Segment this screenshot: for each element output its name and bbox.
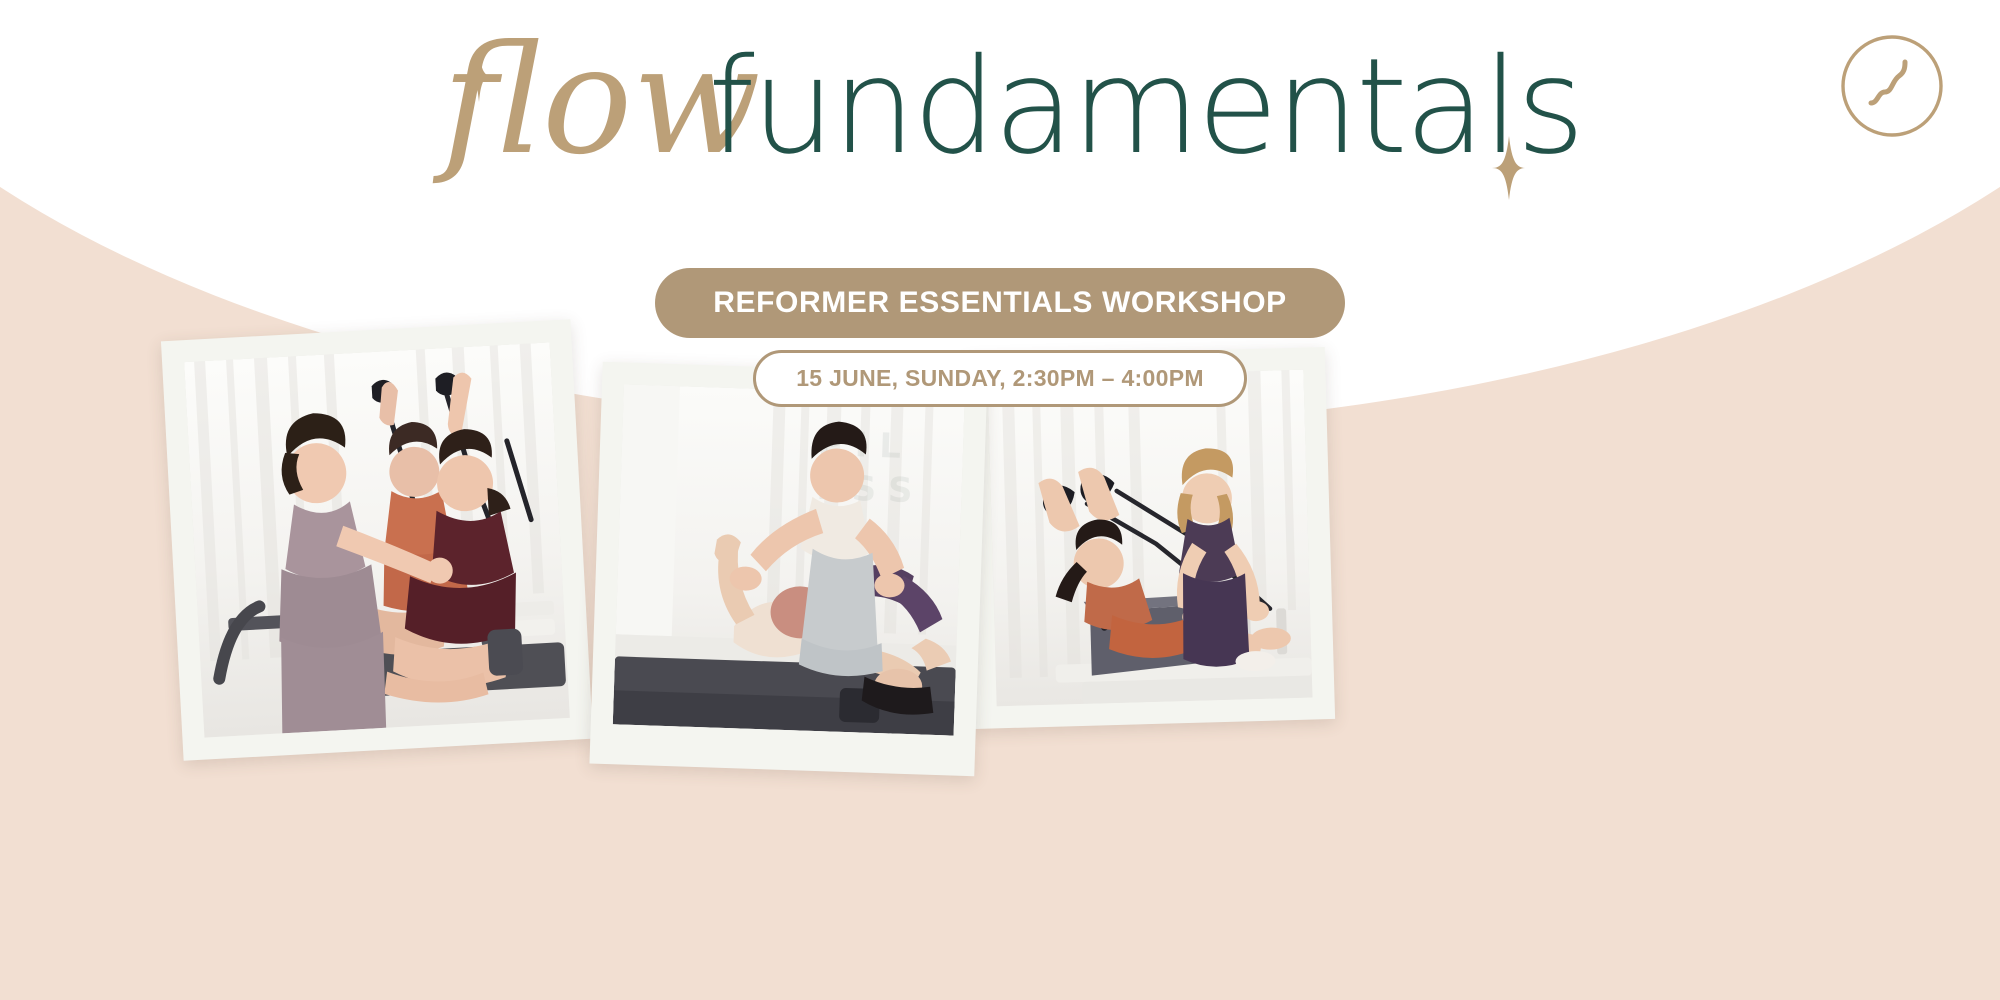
photo-center-illustration: P I L E S S (613, 384, 965, 735)
polaroid-photo-center[interactable]: Instructor in cream sportswear assisting… (589, 362, 987, 777)
circle-wave-logo-icon (1838, 32, 1946, 140)
workshop-title-badge[interactable]: REFORMER ESSENTIALS WORKSHOP (655, 268, 1345, 338)
headline-lockup: flow fundamentals (0, 24, 2000, 234)
poster-canvas: Instructor in mauve sportswear adjusting… (0, 0, 2000, 1000)
brand-logo[interactable] (1838, 32, 1946, 140)
session-date-pill[interactable]: 15 JUNE, SUNDAY, 2:30PM – 4:00PM (753, 350, 1247, 407)
photo-right-illustration (987, 370, 1312, 707)
headline-svg: flow fundamentals (420, 24, 1580, 234)
photo-window: Instructor in cream sportswear assisting… (613, 384, 965, 735)
headline-sans-word: fundamentals (708, 30, 1580, 184)
badge-stack: REFORMER ESSENTIALS WORKSHOP 15 JUNE, SU… (0, 268, 2000, 407)
photo-window: Student in rust sportswear doing a swan … (987, 370, 1312, 707)
